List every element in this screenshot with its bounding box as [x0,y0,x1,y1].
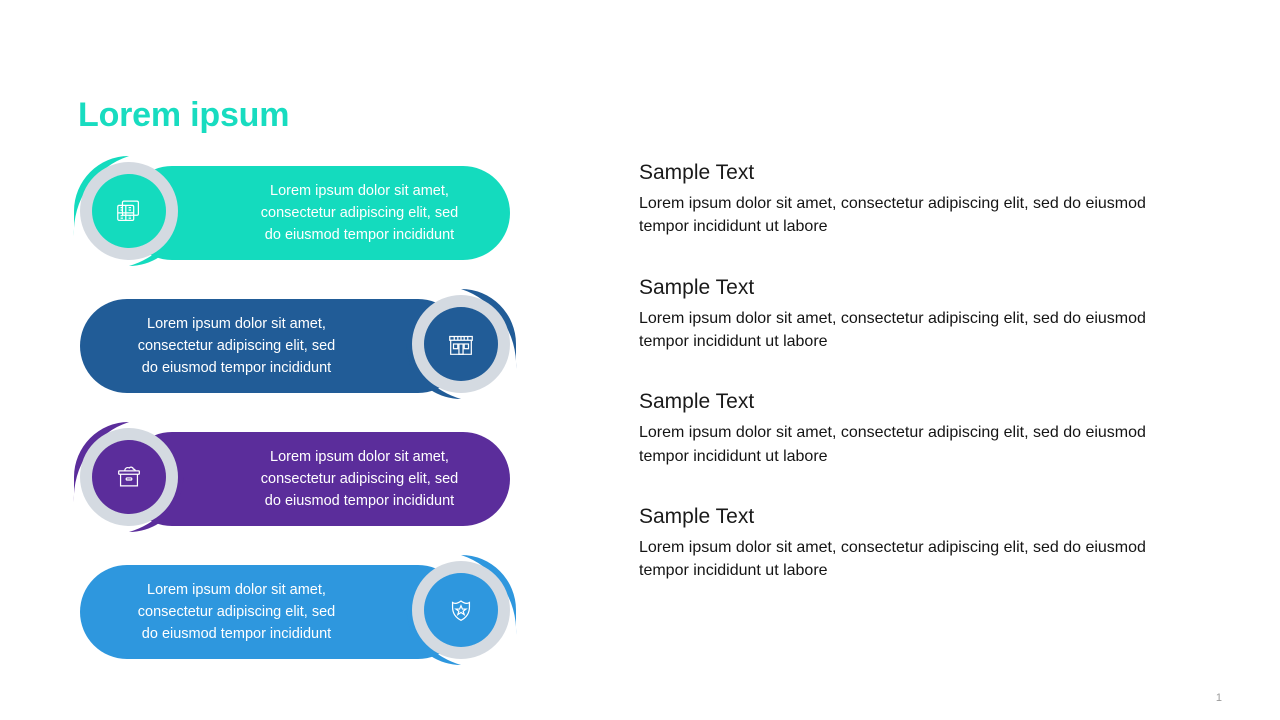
badge-disc-3 [92,440,166,514]
film-frames-icon [114,196,144,226]
infographic-row-1[interactable]: Lorem ipsum dolor sit amet, consectetur … [60,150,530,272]
page-number: 1 [1216,692,1222,704]
detail-heading-4: Sample Text [639,504,1169,529]
detail-block-3: Sample Text Lorem ipsum dolor sit amet, … [639,389,1169,468]
detail-block-4: Sample Text Lorem ipsum dolor sit amet, … [639,504,1169,583]
infographic-pill-text-1: Lorem ipsum dolor sit amet, consectetur … [243,180,476,246]
infographic-badge-1[interactable] [68,150,190,272]
detail-body-1: Lorem ipsum dolor sit amet, consectetur … [639,192,1159,238]
detail-heading-2: Sample Text [639,275,1169,300]
infographic-badge-2[interactable] [400,283,522,405]
badge-disc-1 [92,174,166,248]
detail-heading-3: Sample Text [639,389,1169,414]
infographic-pill-text-4: Lorem ipsum dolor sit amet, consectetur … [120,579,353,645]
slide-canvas: Lorem ipsum Lorem ipsum dolor sit amet, … [0,0,1280,720]
badge-disc-4 [424,573,498,647]
infographic-pill-text-2: Lorem ipsum dolor sit amet, consectetur … [120,313,353,379]
details-column: Sample Text Lorem ipsum dolor sit amet, … [639,160,1169,582]
detail-body-4: Lorem ipsum dolor sit amet, consectetur … [639,536,1159,582]
page-title: Lorem ipsum [78,96,289,135]
detail-heading-1: Sample Text [639,160,1169,185]
shield-star-icon [446,595,476,625]
infographic-pill-text-3: Lorem ipsum dolor sit amet, consectetur … [243,446,476,512]
detail-block-1: Sample Text Lorem ipsum dolor sit amet, … [639,160,1169,239]
badge-disc-2 [424,307,498,381]
infographic-badge-3[interactable] [68,416,190,538]
detail-block-2: Sample Text Lorem ipsum dolor sit amet, … [639,275,1169,354]
infographic-badge-4[interactable] [400,549,522,671]
detail-body-2: Lorem ipsum dolor sit amet, consectetur … [639,307,1159,353]
infographic-column: Lorem ipsum dolor sit amet, consectetur … [60,150,530,680]
infographic-row-3[interactable]: Lorem ipsum dolor sit amet, consectetur … [60,416,530,538]
storefront-icon [446,329,476,359]
archive-box-icon [114,462,144,492]
infographic-row-2[interactable]: Lorem ipsum dolor sit amet, consectetur … [60,283,530,405]
infographic-row-4[interactable]: Lorem ipsum dolor sit amet, consectetur … [60,549,530,671]
detail-body-3: Lorem ipsum dolor sit amet, consectetur … [639,421,1159,467]
